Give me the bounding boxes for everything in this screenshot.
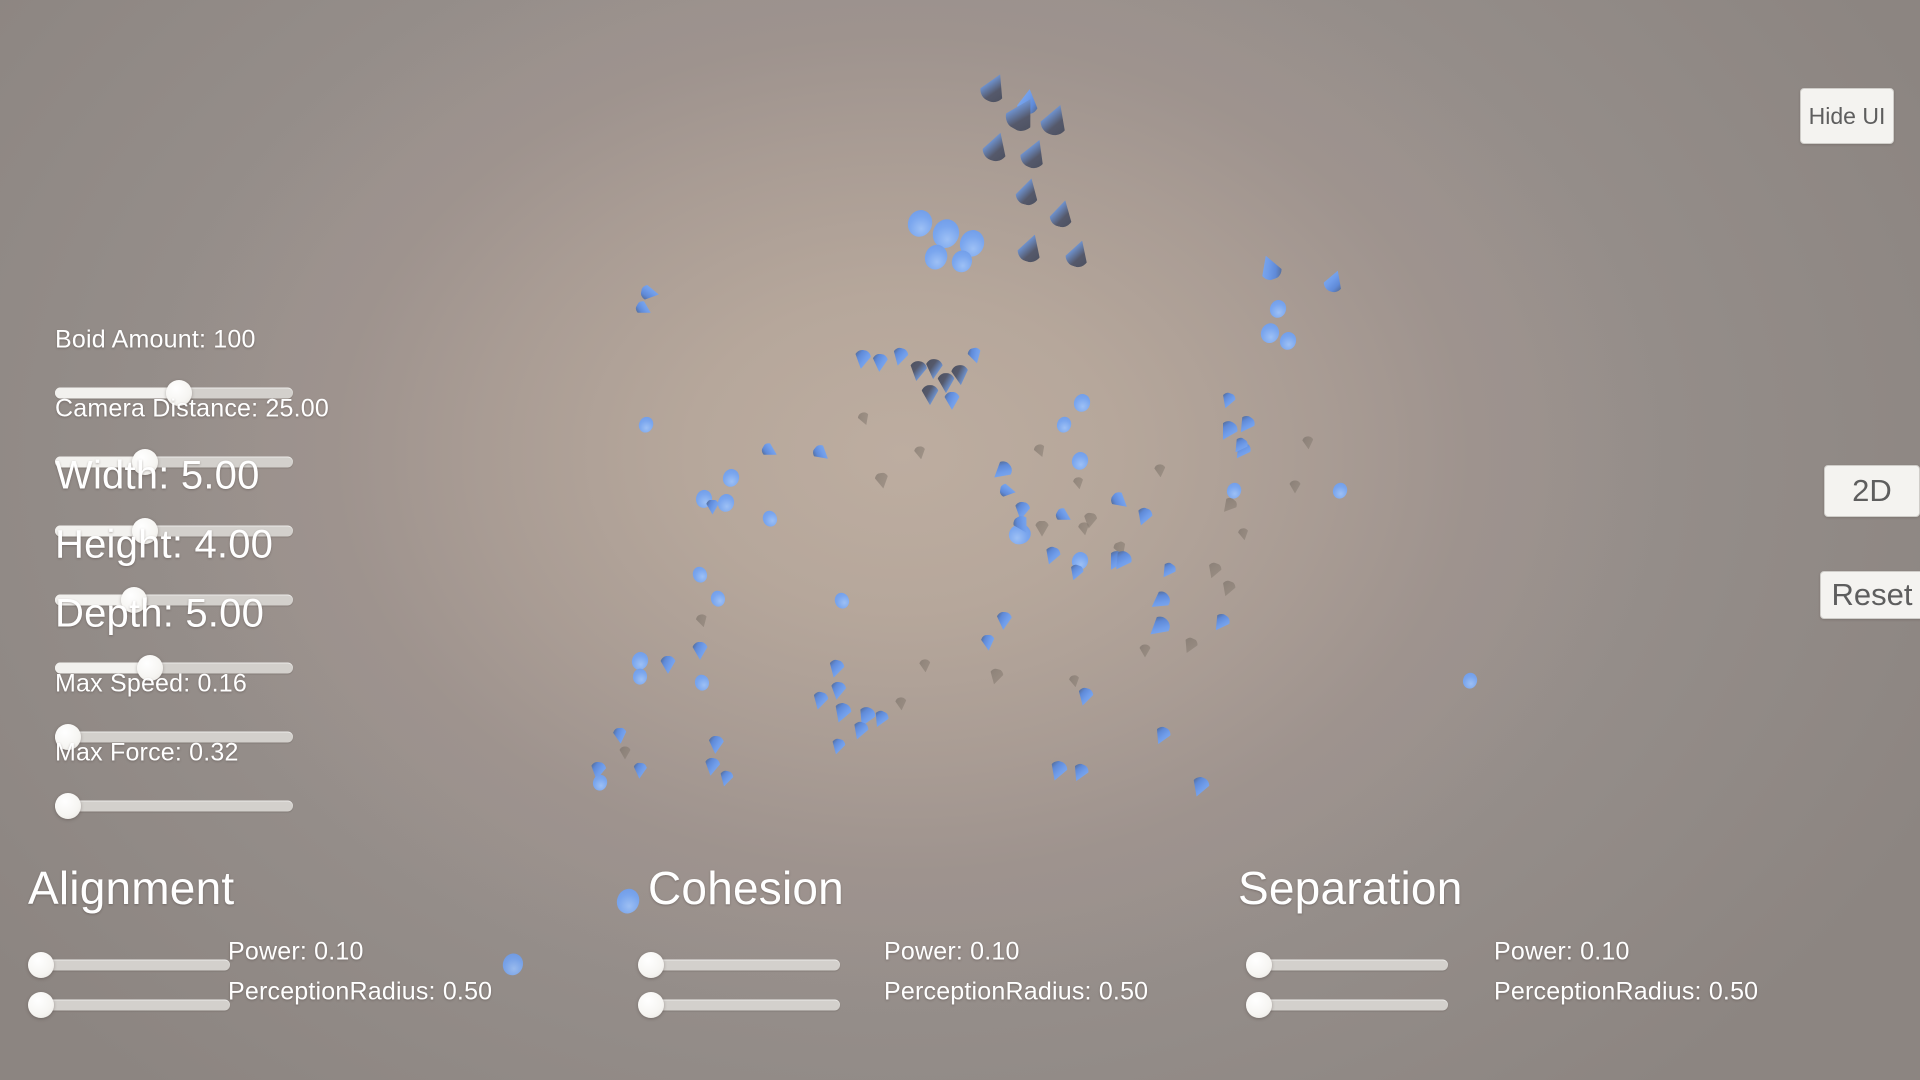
boid-agent	[810, 690, 830, 711]
boid-cone-icon	[1014, 230, 1046, 264]
boid-cone-icon	[619, 746, 631, 759]
boid-agent	[999, 483, 1017, 500]
boid-cone-icon	[660, 656, 676, 674]
boid-agent	[1209, 611, 1232, 635]
boid-cone-icon	[944, 392, 960, 410]
boid-agent	[1071, 392, 1092, 414]
boid-agent	[1301, 436, 1314, 450]
boid-cone-icon	[1301, 436, 1314, 450]
boid-cone-icon	[999, 483, 1017, 500]
boid-agent	[1153, 464, 1166, 478]
boid-agent	[944, 392, 960, 410]
boid-cone-icon	[706, 500, 719, 515]
reset-button-label: Reset	[1832, 577, 1913, 613]
boid-agent	[692, 642, 708, 660]
boid-cone-icon	[1013, 175, 1043, 207]
height-label: Height: 4.00	[55, 523, 273, 568]
boid-agent	[1180, 636, 1199, 656]
max-force-slider[interactable]	[55, 799, 293, 813]
boid-cone-icon	[874, 472, 891, 490]
boid-agent	[830, 701, 854, 726]
simulation-viewport[interactable]: Boid Amount: 100Camera Distance: 25.00Wi…	[0, 0, 1920, 1080]
boid-agent	[717, 769, 735, 788]
boid-agent	[1014, 230, 1046, 264]
boid-agent	[1016, 135, 1051, 172]
boid-cone-icon	[966, 346, 984, 365]
boid-agent	[613, 886, 642, 917]
boid-agent	[1041, 545, 1062, 567]
cohesion-title: Cohesion	[648, 861, 844, 915]
boid-cone-icon	[613, 886, 642, 917]
boid-agent	[1188, 775, 1212, 800]
boid-agent	[856, 410, 872, 427]
boid-agent	[1035, 521, 1049, 537]
depth-label: Depth: 5.00	[55, 592, 264, 637]
slider-thumb[interactable]	[28, 952, 54, 978]
boid-agent	[829, 681, 848, 701]
boid-agent	[826, 658, 846, 679]
boid-agent	[894, 697, 907, 711]
boid-cone-icon	[720, 467, 741, 489]
boid-cone-icon	[1188, 775, 1212, 800]
boid-cone-icon	[913, 445, 927, 460]
boid-agent	[1013, 175, 1043, 207]
boid-agent	[1069, 761, 1091, 784]
boid-agent	[1075, 686, 1095, 707]
boid-cone-icon	[692, 642, 708, 660]
separation-radius-slider[interactable]	[1248, 998, 1448, 1012]
boid-agent	[710, 590, 727, 608]
boid-cone-icon	[1047, 197, 1077, 229]
boid-agent	[1062, 237, 1093, 270]
slider-thumb[interactable]	[28, 992, 54, 1018]
boid-cone-icon	[1147, 588, 1174, 614]
boid-agent	[1144, 612, 1174, 642]
boid-agent	[987, 667, 1005, 686]
boid-amount-label: Boid Amount: 100	[55, 326, 256, 355]
boid-cone-icon	[1180, 636, 1199, 656]
boid-agent	[871, 353, 888, 372]
boid-agent	[703, 757, 722, 777]
boid-cone-icon	[710, 590, 727, 608]
hide-ui-button[interactable]: Hide UI	[1800, 88, 1894, 144]
boid-cone-icon	[632, 668, 647, 685]
boid-cone-icon	[1234, 413, 1257, 437]
boid-cone-icon	[1035, 521, 1049, 537]
hide-ui-button-label: Hide UI	[1809, 103, 1886, 130]
boid-agent	[1234, 413, 1257, 437]
boid-cone-icon	[703, 757, 722, 777]
boid-cone-icon	[691, 565, 710, 585]
boid-cone-icon	[760, 441, 781, 461]
boid-cone-icon	[632, 762, 647, 779]
alignment-radius-label: PerceptionRadius: 0.50	[228, 978, 492, 1007]
boid-agent	[874, 472, 891, 490]
boid-cone-icon	[591, 773, 609, 792]
boid-agent	[1082, 512, 1099, 530]
boid-cone-icon	[1062, 237, 1093, 270]
slider-thumb[interactable]	[638, 952, 664, 978]
boid-agent	[612, 727, 627, 744]
boid-cone-icon	[717, 769, 735, 788]
boid-agent	[1331, 481, 1350, 501]
boid-cone-icon	[830, 701, 854, 726]
boid-cone-icon	[634, 299, 655, 319]
boid-cone-icon	[1209, 611, 1232, 635]
boid-agent	[1277, 330, 1298, 352]
2d-toggle-button[interactable]: 2D	[1824, 465, 1920, 517]
boid-cone-icon	[612, 727, 627, 744]
boid-agent	[852, 348, 872, 370]
boid-cone-icon	[1069, 761, 1091, 784]
vignette-overlay	[0, 0, 1920, 1080]
boid-agent	[988, 458, 1015, 485]
slider-thumb[interactable]	[1246, 952, 1272, 978]
boid-cone-icon	[829, 681, 848, 701]
boid-agent	[694, 613, 709, 629]
boid-cone-icon	[976, 69, 1012, 106]
boid-agent	[707, 735, 724, 754]
boid-cone-icon	[921, 385, 939, 405]
boid-agent	[833, 591, 852, 611]
boid-agent	[913, 445, 927, 460]
boid-cone-icon	[1041, 545, 1062, 567]
boid-cone-icon	[1151, 724, 1173, 747]
boid-cone-icon	[979, 129, 1013, 165]
boid-agent	[1139, 644, 1151, 657]
slider-thumb[interactable]	[1246, 992, 1272, 1018]
separation-power-label: Power: 0.10	[1494, 938, 1630, 967]
cohesion-radius-slider[interactable]	[640, 998, 840, 1012]
boid-cone-icon	[988, 458, 1015, 485]
boid-agent	[1108, 489, 1132, 513]
boid-cone-icon	[1237, 527, 1250, 541]
boid-cone-icon	[1046, 759, 1070, 784]
boid-agent	[950, 364, 970, 386]
alignment-radius-slider[interactable]	[30, 998, 230, 1012]
boid-agent	[1289, 480, 1301, 493]
max-force-label: Max Force: 0.32	[55, 739, 239, 768]
boid-cone-icon	[871, 353, 888, 372]
boid-cone-icon	[810, 442, 833, 464]
alignment-power-slider[interactable]	[30, 958, 230, 972]
boid-cone-icon	[1075, 686, 1095, 707]
width-label: Width: 5.00	[55, 454, 260, 499]
boid-agent	[760, 441, 781, 461]
alignment-power-label: Power: 0.10	[228, 938, 364, 967]
slider-track[interactable]	[640, 960, 840, 971]
boid-agent	[1133, 506, 1154, 528]
boid-cone-icon	[1055, 415, 1074, 435]
boid-agent	[810, 442, 833, 464]
boid-cone-icon	[1068, 674, 1081, 688]
boid-agent	[1205, 561, 1224, 581]
max-speed-label: Max Speed: 0.16	[55, 670, 247, 699]
boid-cone-icon	[918, 659, 931, 673]
boid-agent	[995, 611, 1012, 630]
separation-radius-label: PerceptionRadius: 0.50	[1494, 978, 1758, 1007]
boid-agent	[829, 737, 847, 756]
boid-agent	[1237, 527, 1250, 541]
2d-toggle-button-label: 2D	[1852, 473, 1892, 509]
boid-agent	[1461, 671, 1479, 690]
boid-cone-icon	[950, 364, 970, 386]
slider-thumb[interactable]	[638, 992, 664, 1018]
boid-agent	[1158, 560, 1178, 581]
boid-agent	[890, 346, 910, 367]
boid-cone-icon	[1289, 480, 1301, 493]
reset-button[interactable]: Reset	[1820, 571, 1920, 619]
boid-cone-icon	[1054, 506, 1075, 526]
boid-cone-icon	[1072, 476, 1085, 490]
boid-cone-icon	[1071, 392, 1092, 414]
boid-cone-icon	[1144, 612, 1174, 642]
boid-cone-icon	[1219, 391, 1238, 411]
boid-cone-icon	[1321, 267, 1347, 295]
boid-cone-icon	[1032, 442, 1048, 459]
boid-agent	[1219, 579, 1238, 599]
boid-agent	[980, 634, 995, 651]
boid-agent	[636, 415, 655, 435]
boid-cone-icon	[849, 720, 870, 742]
boid-agent	[1069, 450, 1090, 472]
boid-cone-icon	[1205, 561, 1224, 581]
boid-agent	[1055, 415, 1074, 435]
boid-agent	[1219, 391, 1238, 411]
boid-cone-icon	[707, 735, 724, 754]
boid-cone-icon	[636, 415, 655, 435]
boid-cone-icon	[1158, 560, 1178, 581]
boid-agent	[1068, 674, 1081, 688]
boid-cone-icon	[894, 697, 907, 711]
boid-agent	[619, 746, 631, 759]
boid-cone-icon	[833, 591, 852, 611]
boid-cone-icon	[1133, 506, 1154, 528]
boid-agent	[921, 385, 939, 405]
boid-cone-icon	[1219, 579, 1238, 599]
boid-agent	[694, 674, 711, 692]
boid-agent	[500, 950, 526, 978]
boid-agent	[1046, 759, 1070, 784]
boid-cone-icon	[500, 950, 526, 978]
boid-cone-icon	[829, 737, 847, 756]
boid-cone-icon	[852, 348, 872, 370]
boid-agent	[1047, 197, 1077, 229]
boid-cone-icon	[980, 634, 995, 651]
boid-agent	[976, 69, 1012, 106]
boid-cone-icon	[987, 667, 1005, 686]
boid-cone-icon	[1108, 489, 1132, 513]
slider-thumb[interactable]	[55, 793, 81, 819]
boid-cone-icon	[856, 410, 872, 427]
boid-cone-icon	[1331, 481, 1350, 501]
boid-agent	[591, 773, 609, 792]
boid-cone-icon	[810, 690, 830, 711]
boid-cone-icon	[1277, 330, 1298, 352]
slider-track[interactable]	[30, 960, 230, 971]
boid-cone-icon	[826, 658, 846, 679]
boid-agent	[918, 659, 931, 673]
boid-agent	[1321, 267, 1347, 295]
slider-track[interactable]	[55, 801, 293, 812]
boid-cone-icon	[1069, 450, 1090, 472]
boid-cone-icon	[1153, 464, 1166, 478]
slider-track[interactable]	[640, 1000, 840, 1011]
boid-agent	[849, 720, 870, 742]
boid-cone-icon	[694, 613, 709, 629]
boid-agent	[632, 668, 647, 685]
boid-agent	[966, 346, 984, 365]
separation-title: Separation	[1238, 861, 1463, 915]
alignment-title: Alignment	[28, 861, 234, 915]
boid-agent	[1072, 476, 1085, 490]
boid-agent	[1032, 442, 1048, 459]
cohesion-power-label: Power: 0.10	[884, 938, 1020, 967]
camera-distance-label: Camera Distance: 25.00	[55, 395, 329, 424]
boid-agent	[632, 762, 647, 779]
boid-cone-icon	[1267, 298, 1288, 320]
boid-cone-icon	[694, 674, 711, 692]
separation-power-slider[interactable]	[1248, 958, 1448, 972]
boid-cone-icon	[761, 509, 780, 529]
boid-agent	[761, 509, 780, 529]
boid-cone-icon	[1255, 252, 1284, 283]
slider-track[interactable]	[1248, 1000, 1448, 1011]
boid-agent	[691, 565, 710, 585]
boid-cone-icon	[1082, 512, 1099, 530]
boid-cone-icon	[890, 346, 910, 367]
boid-agent	[1267, 298, 1288, 320]
boid-agent	[720, 467, 741, 489]
boid-agent	[660, 656, 676, 674]
cohesion-radius-label: PerceptionRadius: 0.50	[884, 978, 1148, 1007]
slider-track[interactable]	[1248, 960, 1448, 971]
boid-cone-icon	[1139, 644, 1151, 657]
boid-agent	[1054, 506, 1075, 526]
boid-agent	[1147, 588, 1174, 614]
boid-cone-icon	[995, 611, 1012, 630]
boid-agent	[1151, 724, 1173, 747]
boid-agent	[1255, 252, 1284, 283]
boid-agent	[979, 129, 1013, 165]
slider-track[interactable]	[30, 1000, 230, 1011]
boid-agent	[706, 500, 719, 515]
boid-cone-icon	[1461, 671, 1479, 690]
boid-cone-icon	[1016, 135, 1051, 172]
boid-agent	[634, 299, 655, 319]
cohesion-power-slider[interactable]	[640, 958, 840, 972]
